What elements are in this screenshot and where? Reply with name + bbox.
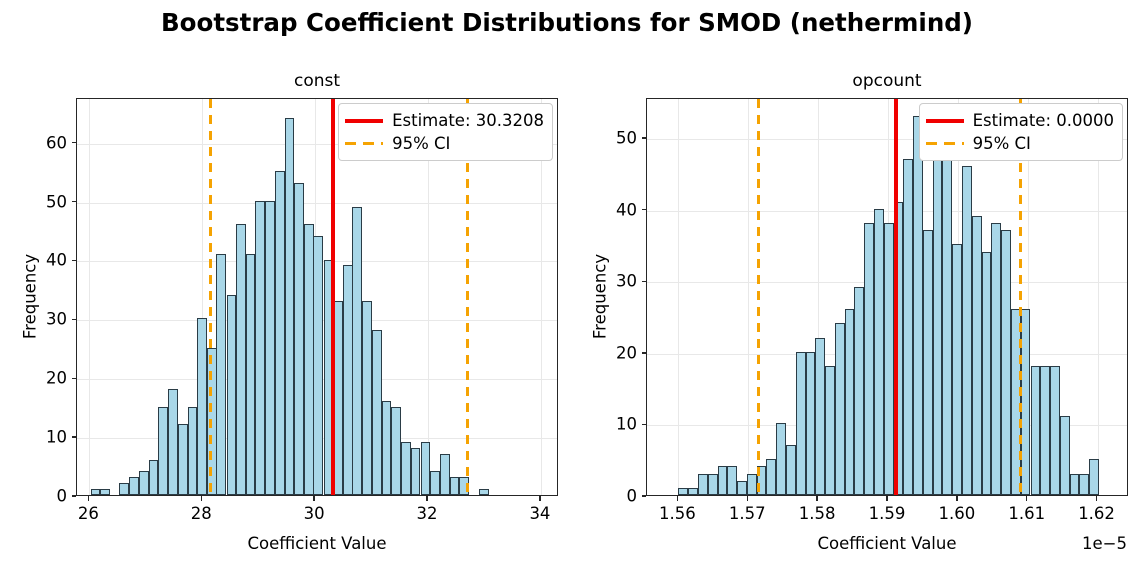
histogram-bar bbox=[874, 209, 884, 495]
histogram-bar bbox=[854, 287, 864, 495]
estimate-line bbox=[894, 99, 898, 495]
histogram-bar bbox=[884, 223, 894, 495]
gridline-vertical bbox=[748, 99, 749, 495]
histogram-bar bbox=[304, 224, 314, 495]
x-tick-mark bbox=[201, 496, 202, 501]
subplot-const: const Coefficient Value Frequency Estima… bbox=[0, 0, 567, 569]
x-tick-mark bbox=[816, 496, 817, 501]
y-tick-mark bbox=[642, 209, 647, 210]
histogram-bar bbox=[786, 445, 796, 495]
histogram-bar bbox=[352, 207, 362, 495]
subplot-title-const: const bbox=[76, 71, 558, 91]
y-tick-label: 30 bbox=[567, 272, 637, 291]
y-tick-mark bbox=[72, 378, 77, 379]
x-tick-label: 1.60 bbox=[917, 504, 997, 523]
histogram-bar bbox=[1070, 474, 1080, 495]
y-tick-mark bbox=[642, 495, 647, 496]
histogram-bar bbox=[255, 201, 265, 495]
x-axis-label-opcount: Coefficient Value bbox=[646, 534, 1128, 553]
x-tick-mark bbox=[88, 496, 89, 501]
histogram-bar bbox=[962, 166, 972, 495]
histogram-bar bbox=[796, 352, 806, 495]
histogram-bar bbox=[776, 423, 786, 495]
histogram-bar bbox=[275, 171, 285, 495]
histogram-bar bbox=[372, 330, 382, 495]
histogram-bar bbox=[688, 488, 698, 495]
histogram-bar bbox=[1089, 459, 1099, 495]
histogram-bar bbox=[197, 318, 207, 495]
legend-opcount: Estimate: 0.0000 95% CI bbox=[919, 103, 1123, 161]
histogram-bar bbox=[933, 137, 943, 495]
histogram-bar bbox=[411, 448, 421, 495]
gridline-horizontal bbox=[77, 203, 557, 204]
histogram-bar bbox=[952, 244, 962, 495]
histogram-bar bbox=[188, 407, 198, 495]
x-tick-mark bbox=[1096, 496, 1097, 501]
ci-lower-line bbox=[757, 99, 760, 495]
histogram-bar bbox=[718, 466, 728, 495]
x-tick-label: 32 bbox=[387, 504, 467, 523]
gridline-horizontal bbox=[647, 211, 1127, 212]
x-tick-mark bbox=[886, 496, 887, 501]
y-tick-label: 10 bbox=[0, 428, 67, 447]
y-tick-label: 40 bbox=[0, 251, 67, 270]
figure-canvas: Bootstrap Coefficient Distributions for … bbox=[0, 0, 1134, 569]
x-tick-label: 28 bbox=[161, 504, 241, 523]
histogram-bar bbox=[1050, 366, 1060, 495]
histogram-bar bbox=[450, 477, 460, 495]
legend-label-ci: 95% CI bbox=[973, 134, 1031, 153]
histogram-bar bbox=[825, 366, 835, 495]
histogram-bar bbox=[747, 474, 757, 495]
y-tick-label: 30 bbox=[0, 310, 67, 329]
legend-label-estimate: Estimate: 0.0000 bbox=[973, 111, 1114, 130]
legend-const: Estimate: 30.3208 95% CI bbox=[338, 103, 553, 161]
x-axis-label-const: Coefficient Value bbox=[76, 534, 558, 553]
histogram-bar bbox=[216, 254, 226, 495]
histogram-bar bbox=[91, 489, 101, 495]
legend-entry-ci: 95% CI bbox=[345, 132, 544, 155]
x-tick-label: 1.58 bbox=[777, 504, 857, 523]
histogram-bar bbox=[942, 123, 952, 495]
histogram-bar bbox=[119, 483, 129, 495]
histogram-bar bbox=[864, 223, 874, 495]
estimate-line-swatch-icon bbox=[345, 114, 383, 128]
legend-label-estimate: Estimate: 30.3208 bbox=[392, 111, 544, 130]
histogram-bar bbox=[991, 223, 1001, 495]
histogram-bar bbox=[265, 201, 275, 495]
legend-entry-ci: 95% CI bbox=[926, 132, 1114, 155]
y-tick-label: 20 bbox=[0, 369, 67, 388]
histogram-bar bbox=[1031, 366, 1041, 495]
y-axis-label-opcount: Frequency bbox=[591, 98, 610, 496]
gridline-vertical bbox=[678, 99, 679, 495]
estimate-line bbox=[331, 99, 335, 495]
y-tick-mark bbox=[72, 142, 77, 143]
histogram-bar bbox=[285, 118, 295, 495]
histogram-bar bbox=[1001, 230, 1011, 495]
histogram-bar bbox=[149, 460, 159, 495]
histogram-bar bbox=[227, 295, 237, 495]
histogram-bar bbox=[835, 323, 845, 495]
legend-entry-estimate: Estimate: 30.3208 bbox=[345, 109, 544, 132]
y-tick-mark bbox=[72, 260, 77, 261]
histogram-bar bbox=[1040, 366, 1050, 495]
x-tick-mark bbox=[539, 496, 540, 501]
histogram-bar bbox=[737, 481, 747, 495]
histogram-bar bbox=[440, 454, 450, 495]
histogram-bar bbox=[401, 442, 411, 495]
x-tick-label: 26 bbox=[48, 504, 128, 523]
histogram-bar bbox=[421, 442, 431, 495]
y-tick-label: 40 bbox=[567, 200, 637, 219]
y-tick-label: 20 bbox=[567, 343, 637, 362]
histogram-bar bbox=[972, 216, 982, 495]
x-tick-label: 1.61 bbox=[987, 504, 1067, 523]
histogram-bar bbox=[845, 309, 855, 495]
ci-lower-line bbox=[209, 99, 212, 495]
y-tick-label: 0 bbox=[567, 487, 637, 506]
x-tick-label: 30 bbox=[274, 504, 354, 523]
histogram-bar bbox=[923, 230, 933, 495]
histogram-bar bbox=[313, 236, 323, 495]
histogram-bar bbox=[430, 471, 440, 495]
histogram-bar bbox=[236, 224, 246, 495]
histogram-bar bbox=[678, 488, 688, 495]
histogram-bar bbox=[246, 254, 256, 495]
y-tick-label: 0 bbox=[0, 487, 67, 506]
legend-label-ci: 95% CI bbox=[392, 134, 450, 153]
y-tick-mark bbox=[72, 495, 77, 496]
y-tick-mark bbox=[642, 281, 647, 282]
y-tick-label: 50 bbox=[567, 129, 637, 148]
subplot-title-opcount: opcount bbox=[646, 71, 1128, 91]
x-tick-label: 1.59 bbox=[847, 504, 927, 523]
histogram-bar bbox=[382, 401, 392, 495]
x-tick-mark bbox=[1026, 496, 1027, 501]
histogram-bar bbox=[479, 489, 489, 495]
ci-line-swatch-icon bbox=[926, 137, 964, 151]
histogram-bar bbox=[168, 389, 178, 495]
subplot-opcount: opcount Coefficient Value Frequency 1e−5… bbox=[567, 0, 1134, 569]
x-tick-label: 1.62 bbox=[1057, 504, 1134, 523]
legend-entry-estimate: Estimate: 0.0000 bbox=[926, 109, 1114, 132]
histogram-bar bbox=[903, 159, 913, 495]
histogram-bar bbox=[362, 301, 372, 495]
histogram-bar bbox=[815, 338, 825, 495]
x-tick-mark bbox=[313, 496, 314, 501]
histogram-bar bbox=[139, 471, 149, 495]
y-tick-label: 10 bbox=[567, 415, 637, 434]
y-tick-mark bbox=[72, 436, 77, 437]
histogram-bar bbox=[343, 265, 353, 495]
histogram-bar bbox=[129, 477, 139, 495]
x-tick-label: 1.57 bbox=[707, 504, 787, 523]
histogram-bar bbox=[708, 474, 718, 495]
histogram-bar bbox=[982, 252, 992, 495]
y-tick-mark bbox=[642, 352, 647, 353]
y-tick-label: 60 bbox=[0, 133, 67, 152]
estimate-line-swatch-icon bbox=[926, 114, 964, 128]
histogram-bar bbox=[806, 352, 816, 495]
x-tick-label: 1.56 bbox=[637, 504, 717, 523]
y-tick-mark bbox=[642, 424, 647, 425]
x-tick-mark bbox=[956, 496, 957, 501]
ci-line-swatch-icon bbox=[345, 137, 383, 151]
histogram-bar bbox=[727, 466, 737, 495]
y-tick-label: 50 bbox=[0, 192, 67, 211]
y-tick-mark bbox=[72, 201, 77, 202]
histogram-bar bbox=[391, 407, 401, 495]
y-tick-mark bbox=[72, 319, 77, 320]
y-tick-mark bbox=[642, 137, 647, 138]
histogram-bar bbox=[698, 474, 708, 495]
histogram-bar bbox=[100, 489, 110, 495]
x-tick-mark bbox=[426, 496, 427, 501]
histogram-bar bbox=[1060, 416, 1070, 495]
x-tick-mark bbox=[677, 496, 678, 501]
histogram-bar bbox=[178, 424, 188, 495]
x-axis-offset-text-opcount: 1e−5 bbox=[1082, 534, 1127, 553]
histogram-bar bbox=[158, 407, 168, 495]
x-tick-mark bbox=[747, 496, 748, 501]
histogram-bar bbox=[766, 459, 776, 495]
histogram-bar bbox=[1079, 474, 1089, 495]
histogram-bar bbox=[294, 183, 304, 495]
histogram-bar bbox=[913, 116, 923, 495]
gridline-vertical bbox=[89, 99, 90, 495]
